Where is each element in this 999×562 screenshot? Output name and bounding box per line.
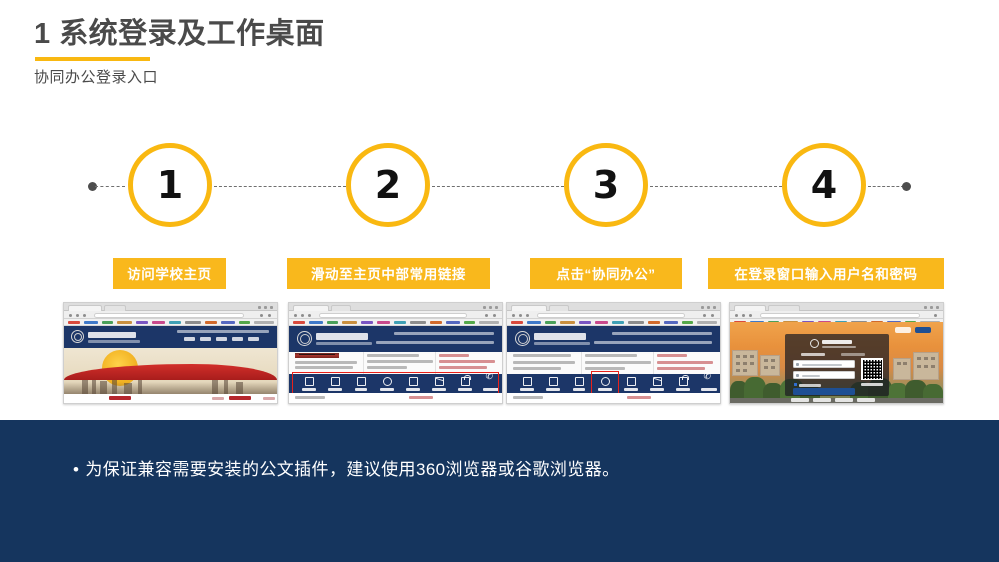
menu-icon[interactable] bbox=[711, 314, 714, 317]
footer-note-row: •为保证兼容需要安装的公文插件，建议使用360浏览器或谷歌浏览器。 bbox=[73, 455, 620, 480]
notice-text-line bbox=[439, 360, 495, 363]
site-nav-item[interactable] bbox=[184, 337, 195, 341]
column-divider bbox=[581, 352, 582, 374]
browser-address-bar[interactable] bbox=[730, 311, 943, 319]
column-divider bbox=[363, 352, 364, 374]
profile-icon[interactable] bbox=[703, 314, 706, 317]
browser-chrome bbox=[289, 303, 502, 326]
news-text-line bbox=[585, 361, 651, 364]
site-header bbox=[289, 326, 502, 352]
site-main-nav[interactable] bbox=[376, 341, 494, 344]
back-icon[interactable] bbox=[512, 314, 515, 317]
password-placeholder bbox=[802, 375, 820, 378]
step-label-4: 在登录窗口输入用户名和密码 bbox=[708, 258, 944, 289]
browser-address-bar[interactable] bbox=[507, 311, 720, 319]
window-minimize-icon[interactable] bbox=[701, 306, 704, 309]
site-nav-item[interactable] bbox=[232, 337, 243, 341]
bookmark-item[interactable] bbox=[430, 321, 442, 324]
window-close-icon[interactable] bbox=[936, 306, 939, 309]
bookmark-item[interactable] bbox=[102, 321, 113, 324]
university-logo bbox=[515, 331, 530, 346]
news-text-line bbox=[513, 367, 561, 370]
bookmark-item[interactable] bbox=[185, 321, 201, 324]
back-icon[interactable] bbox=[69, 314, 72, 317]
quick-link-label bbox=[650, 388, 664, 391]
menu-icon[interactable] bbox=[268, 314, 271, 317]
forward-icon[interactable] bbox=[76, 314, 79, 317]
bookmark-item[interactable] bbox=[117, 321, 132, 324]
quick-link-label bbox=[546, 388, 560, 391]
news-text-line bbox=[513, 354, 571, 357]
profile-icon[interactable] bbox=[260, 314, 263, 317]
building-icon bbox=[549, 377, 558, 386]
user-icon bbox=[796, 363, 799, 366]
section-title-line bbox=[627, 396, 651, 399]
quick-link-7[interactable] bbox=[675, 377, 691, 391]
university-name bbox=[88, 332, 136, 338]
qr-code-caption bbox=[861, 383, 883, 386]
news-text-line bbox=[585, 354, 637, 357]
step-circle-2[interactable]: 2 bbox=[346, 143, 430, 227]
page-subtitle: 协同办公登录入口 bbox=[34, 66, 325, 87]
lock-icon bbox=[679, 377, 688, 386]
column-divider bbox=[653, 352, 654, 374]
news-text-line bbox=[585, 367, 625, 370]
screenshot-thumb-1[interactable] bbox=[63, 302, 278, 404]
url-input[interactable] bbox=[537, 313, 685, 318]
lock-icon bbox=[796, 374, 799, 377]
bookmark-item[interactable] bbox=[628, 321, 644, 324]
tab-sms-login[interactable] bbox=[841, 353, 865, 356]
bookmark-item[interactable] bbox=[479, 321, 499, 324]
bookmark-item[interactable] bbox=[205, 321, 217, 324]
news-region bbox=[289, 352, 503, 374]
site-main-nav[interactable] bbox=[594, 341, 712, 344]
title-underline-rule bbox=[35, 57, 150, 61]
site-header bbox=[507, 326, 720, 352]
bookmark-item[interactable] bbox=[560, 321, 575, 324]
footer-link-button[interactable] bbox=[857, 398, 875, 402]
remember-me-label bbox=[799, 384, 821, 387]
campus-building bbox=[760, 355, 780, 376]
window-minimize-icon[interactable] bbox=[483, 306, 486, 309]
university-name bbox=[534, 333, 586, 340]
footer-note-text: 为保证兼容需要安装的公文插件，建议使用360浏览器或谷歌浏览器。 bbox=[85, 460, 619, 479]
bookmark-item[interactable] bbox=[136, 321, 148, 324]
bookmarks-bar bbox=[64, 319, 277, 326]
login-button[interactable] bbox=[793, 388, 855, 395]
language-button-active[interactable] bbox=[915, 327, 931, 333]
bookmarks-bar bbox=[507, 319, 720, 326]
bookmark-item[interactable] bbox=[511, 321, 523, 324]
step-circle-3[interactable]: 3 bbox=[564, 143, 648, 227]
back-icon[interactable] bbox=[735, 314, 738, 317]
bottom-news-region bbox=[289, 393, 503, 404]
bookmark-item[interactable] bbox=[446, 321, 460, 324]
forward-icon[interactable] bbox=[301, 314, 304, 317]
footer-link-button[interactable] bbox=[791, 398, 809, 402]
login-page-background bbox=[730, 322, 943, 404]
menu-icon[interactable] bbox=[493, 314, 496, 317]
site-utility-nav[interactable] bbox=[612, 332, 712, 335]
window-close-icon[interactable] bbox=[713, 306, 716, 309]
login-panel bbox=[785, 334, 889, 396]
slide-header: 1 系统登录及工作桌面 协同办公登录入口 bbox=[34, 18, 325, 87]
quick-link-label bbox=[624, 388, 638, 391]
highlight-box-quicklinks-row bbox=[292, 372, 499, 395]
bookmark-item[interactable] bbox=[84, 321, 98, 324]
quick-link-1[interactable] bbox=[519, 377, 535, 391]
bookmark-item[interactable] bbox=[377, 321, 390, 324]
quick-link-5[interactable] bbox=[623, 377, 639, 391]
bookmark-item[interactable] bbox=[293, 321, 305, 324]
url-input[interactable] bbox=[94, 313, 244, 318]
reload-icon[interactable] bbox=[83, 314, 86, 317]
site-nav-item[interactable] bbox=[216, 337, 227, 341]
window-minimize-icon[interactable] bbox=[258, 306, 261, 309]
university-name bbox=[822, 340, 852, 344]
username-value bbox=[802, 364, 842, 367]
url-input[interactable] bbox=[760, 313, 920, 318]
homepage-banner bbox=[64, 348, 277, 394]
browser-tab-bar bbox=[289, 303, 502, 311]
forward-icon[interactable] bbox=[742, 314, 745, 317]
bookmark-item[interactable] bbox=[309, 321, 323, 324]
news-text-line bbox=[367, 360, 433, 363]
phone-icon bbox=[705, 377, 714, 386]
banner-skyline bbox=[64, 382, 277, 394]
browser-chrome bbox=[64, 303, 277, 326]
form-icon bbox=[523, 377, 532, 386]
mail-icon bbox=[653, 377, 662, 386]
university-logo bbox=[810, 339, 819, 348]
footer-link-button[interactable] bbox=[813, 398, 831, 402]
step-label-1: 访问学校主页 bbox=[113, 258, 226, 289]
timeline-segment-0 bbox=[95, 186, 125, 187]
browser-address-bar[interactable] bbox=[64, 311, 277, 319]
step-label-3: 点击“协同办公” bbox=[530, 258, 682, 289]
window-maximize-icon[interactable] bbox=[930, 306, 933, 309]
qr-code[interactable] bbox=[861, 358, 883, 380]
quick-link-2[interactable] bbox=[545, 377, 561, 391]
section-title-line bbox=[295, 396, 325, 399]
window-minimize-icon[interactable] bbox=[924, 306, 927, 309]
news-text-line bbox=[295, 361, 357, 364]
university-name-en bbox=[822, 346, 856, 348]
university-name-en bbox=[88, 340, 140, 343]
quick-link-label bbox=[573, 388, 585, 391]
news-section-title bbox=[109, 396, 131, 400]
bookmark-item[interactable] bbox=[394, 321, 406, 324]
banner-red-ribbon bbox=[64, 364, 277, 380]
bookmark-item[interactable] bbox=[664, 321, 678, 324]
bookmark-item[interactable] bbox=[579, 321, 591, 324]
profile-icon[interactable] bbox=[485, 314, 488, 317]
step-number-3: 3 bbox=[593, 163, 619, 207]
screenshot-thumb-2[interactable] bbox=[288, 302, 503, 404]
bookmark-item[interactable] bbox=[239, 321, 250, 324]
bookmark-item[interactable] bbox=[682, 321, 693, 324]
quick-link-8[interactable] bbox=[701, 377, 717, 391]
bookmark-item[interactable] bbox=[152, 321, 165, 324]
step-number-2: 2 bbox=[375, 163, 401, 207]
notice-text-line bbox=[439, 354, 469, 357]
forward-icon[interactable] bbox=[519, 314, 522, 317]
bookmark-item[interactable] bbox=[464, 321, 475, 324]
bookmark-item[interactable] bbox=[254, 321, 274, 324]
browser-address-bar[interactable] bbox=[289, 311, 502, 319]
campus-building bbox=[732, 350, 758, 376]
notice-text-line bbox=[657, 361, 713, 364]
window-close-icon[interactable] bbox=[270, 306, 273, 309]
timeline-segment-1 bbox=[214, 186, 346, 187]
news-section bbox=[64, 394, 278, 404]
section-title-line bbox=[513, 396, 543, 399]
bookmark-item[interactable] bbox=[361, 321, 373, 324]
university-name-en bbox=[316, 342, 372, 345]
bookmark-item[interactable] bbox=[697, 321, 717, 324]
quick-link-label bbox=[520, 388, 534, 391]
news-text-line bbox=[367, 354, 419, 357]
bottom-news-region bbox=[507, 393, 721, 404]
university-logo bbox=[297, 331, 312, 346]
site-utility-nav[interactable] bbox=[177, 330, 269, 333]
browser-tab-bar bbox=[507, 303, 720, 311]
screenshot-thumb-3[interactable] bbox=[506, 302, 721, 404]
username-input[interactable] bbox=[793, 360, 855, 368]
notice-text-line bbox=[657, 354, 687, 357]
bookmark-item[interactable] bbox=[527, 321, 541, 324]
window-maximize-icon[interactable] bbox=[707, 306, 710, 309]
footer-note-bar: •为保证兼容需要安装的公文插件，建议使用360浏览器或谷歌浏览器。 bbox=[0, 420, 999, 562]
footer-link-button[interactable] bbox=[835, 398, 853, 402]
document-icon bbox=[575, 377, 584, 386]
step-circle-1[interactable]: 1 bbox=[128, 143, 212, 227]
notice-more-link[interactable] bbox=[263, 397, 275, 400]
column-divider bbox=[435, 352, 436, 374]
step-number-4: 4 bbox=[811, 163, 837, 207]
timeline-segment-2 bbox=[432, 186, 564, 187]
bookmark-item[interactable] bbox=[221, 321, 235, 324]
quick-link-3[interactable] bbox=[571, 377, 587, 391]
notice-section-title bbox=[229, 396, 251, 400]
bookmark-item[interactable] bbox=[68, 321, 80, 324]
qr-code-image bbox=[863, 360, 882, 379]
tab-account-login[interactable] bbox=[801, 353, 825, 356]
campus-building bbox=[893, 358, 911, 380]
bookmark-item[interactable] bbox=[648, 321, 660, 324]
news-text-line bbox=[513, 361, 575, 364]
site-nav-item[interactable] bbox=[248, 337, 259, 341]
notice-text-line bbox=[439, 366, 487, 369]
bookmark-item[interactable] bbox=[342, 321, 357, 324]
news-thumbnail bbox=[295, 353, 339, 358]
bookmark-item[interactable] bbox=[545, 321, 556, 324]
monitor-icon bbox=[627, 377, 636, 386]
reload-icon[interactable] bbox=[526, 314, 529, 317]
browser-chrome bbox=[507, 303, 720, 326]
site-nav-item[interactable] bbox=[200, 337, 211, 341]
reload-icon[interactable] bbox=[308, 314, 311, 317]
section-title-line bbox=[409, 396, 433, 399]
password-input[interactable] bbox=[793, 371, 855, 379]
window-maximize-icon[interactable] bbox=[489, 306, 492, 309]
reload-icon[interactable] bbox=[749, 314, 752, 317]
step-circle-4[interactable]: 4 bbox=[782, 143, 866, 227]
news-text-line bbox=[295, 366, 353, 369]
language-button[interactable] bbox=[895, 327, 911, 333]
url-input[interactable] bbox=[319, 313, 467, 318]
steps-timeline: 1 2 3 4 bbox=[0, 140, 999, 240]
quick-link-label bbox=[676, 388, 690, 391]
page-title: 1 系统登录及工作桌面 bbox=[34, 18, 325, 51]
bookmark-item[interactable] bbox=[169, 321, 181, 324]
bookmarks-bar bbox=[289, 319, 502, 326]
footer-bullet: • bbox=[73, 460, 79, 479]
university-name bbox=[316, 333, 368, 340]
campus-building bbox=[913, 352, 939, 380]
window-close-icon[interactable] bbox=[495, 306, 498, 309]
remember-me-checkbox[interactable] bbox=[794, 383, 797, 386]
quick-link-label bbox=[701, 388, 717, 391]
bookmark-item[interactable] bbox=[410, 321, 426, 324]
site-header bbox=[64, 326, 277, 348]
browser-tab-bar bbox=[64, 303, 277, 311]
screenshot-thumb-4[interactable] bbox=[729, 302, 944, 404]
bookmark-item[interactable] bbox=[595, 321, 608, 324]
bookmark-item[interactable] bbox=[612, 321, 624, 324]
timeline-segment-3 bbox=[650, 186, 782, 187]
step-number-1: 1 bbox=[157, 163, 183, 207]
news-text-line bbox=[367, 366, 407, 369]
browser-chrome bbox=[730, 303, 943, 322]
site-utility-nav[interactable] bbox=[394, 332, 494, 335]
browser-tab-bar bbox=[730, 303, 943, 311]
bookmark-item[interactable] bbox=[327, 321, 338, 324]
notice-text-line bbox=[657, 367, 705, 370]
quick-link-6[interactable] bbox=[649, 377, 665, 391]
back-icon[interactable] bbox=[294, 314, 297, 317]
news-more-link[interactable] bbox=[212, 397, 224, 400]
university-logo bbox=[71, 330, 84, 343]
timeline-segment-4 bbox=[868, 186, 904, 187]
step-label-2: 滑动至主页中部常用链接 bbox=[287, 258, 490, 289]
university-name-en bbox=[534, 342, 590, 345]
timeline-end-dot bbox=[902, 182, 911, 191]
window-maximize-icon[interactable] bbox=[264, 306, 267, 309]
menu-icon[interactable] bbox=[934, 314, 937, 317]
